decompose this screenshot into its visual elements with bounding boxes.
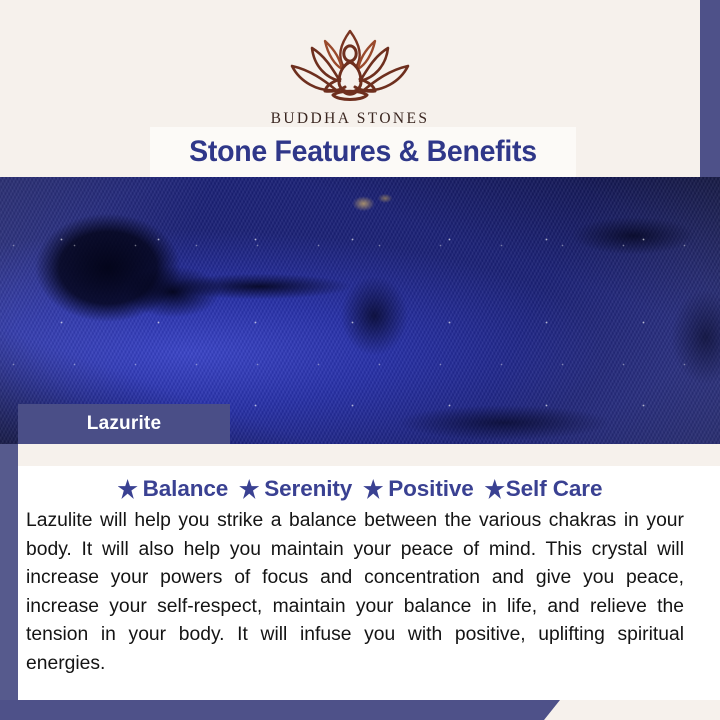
navy-right-accent-bar: [700, 0, 720, 178]
benefit-label: Self Care: [506, 476, 603, 502]
star-icon: [485, 479, 505, 499]
stone-features-poster: BUDDHA STONES Stone Features & Benefits …: [0, 0, 720, 720]
poster-header: BUDDHA STONES Stone Features & Benefits: [0, 0, 700, 178]
body-top-tint: [18, 444, 720, 466]
benefit-item-positive: Positive: [363, 476, 474, 502]
stone-photo: Lazurite: [0, 177, 720, 444]
brand-name: BUDDHA STONES: [0, 110, 700, 128]
lotus-meditation-icon: [270, 22, 430, 108]
star-icon: [118, 479, 138, 499]
title-panel: Stone Features & Benefits: [150, 127, 576, 177]
star-icon: [363, 479, 383, 499]
star-icon: [239, 479, 259, 499]
navy-left-accent-bar: [0, 444, 18, 720]
benefit-item-serenity: Serenity: [239, 476, 352, 502]
brand-logo: BUDDHA STONES: [0, 22, 700, 128]
benefit-label: Serenity: [264, 476, 352, 502]
stone-description: Lazulite will help you strike a balance …: [26, 506, 684, 677]
benefit-label: Positive: [388, 476, 474, 502]
poster-body: Balance Serenity Positive Self Care Lazu…: [18, 444, 720, 700]
navy-bottom-accent-bar: [0, 700, 560, 720]
benefit-item-self-care: Self Care: [485, 476, 603, 502]
benefit-label: Balance: [143, 476, 229, 502]
stone-name-badge: Lazurite: [18, 404, 230, 444]
benefits-row: Balance Serenity Positive Self Care: [18, 476, 702, 502]
stone-name-label: Lazurite: [87, 413, 161, 435]
benefit-item-balance: Balance: [118, 476, 229, 502]
page-title: Stone Features & Benefits: [189, 135, 537, 169]
